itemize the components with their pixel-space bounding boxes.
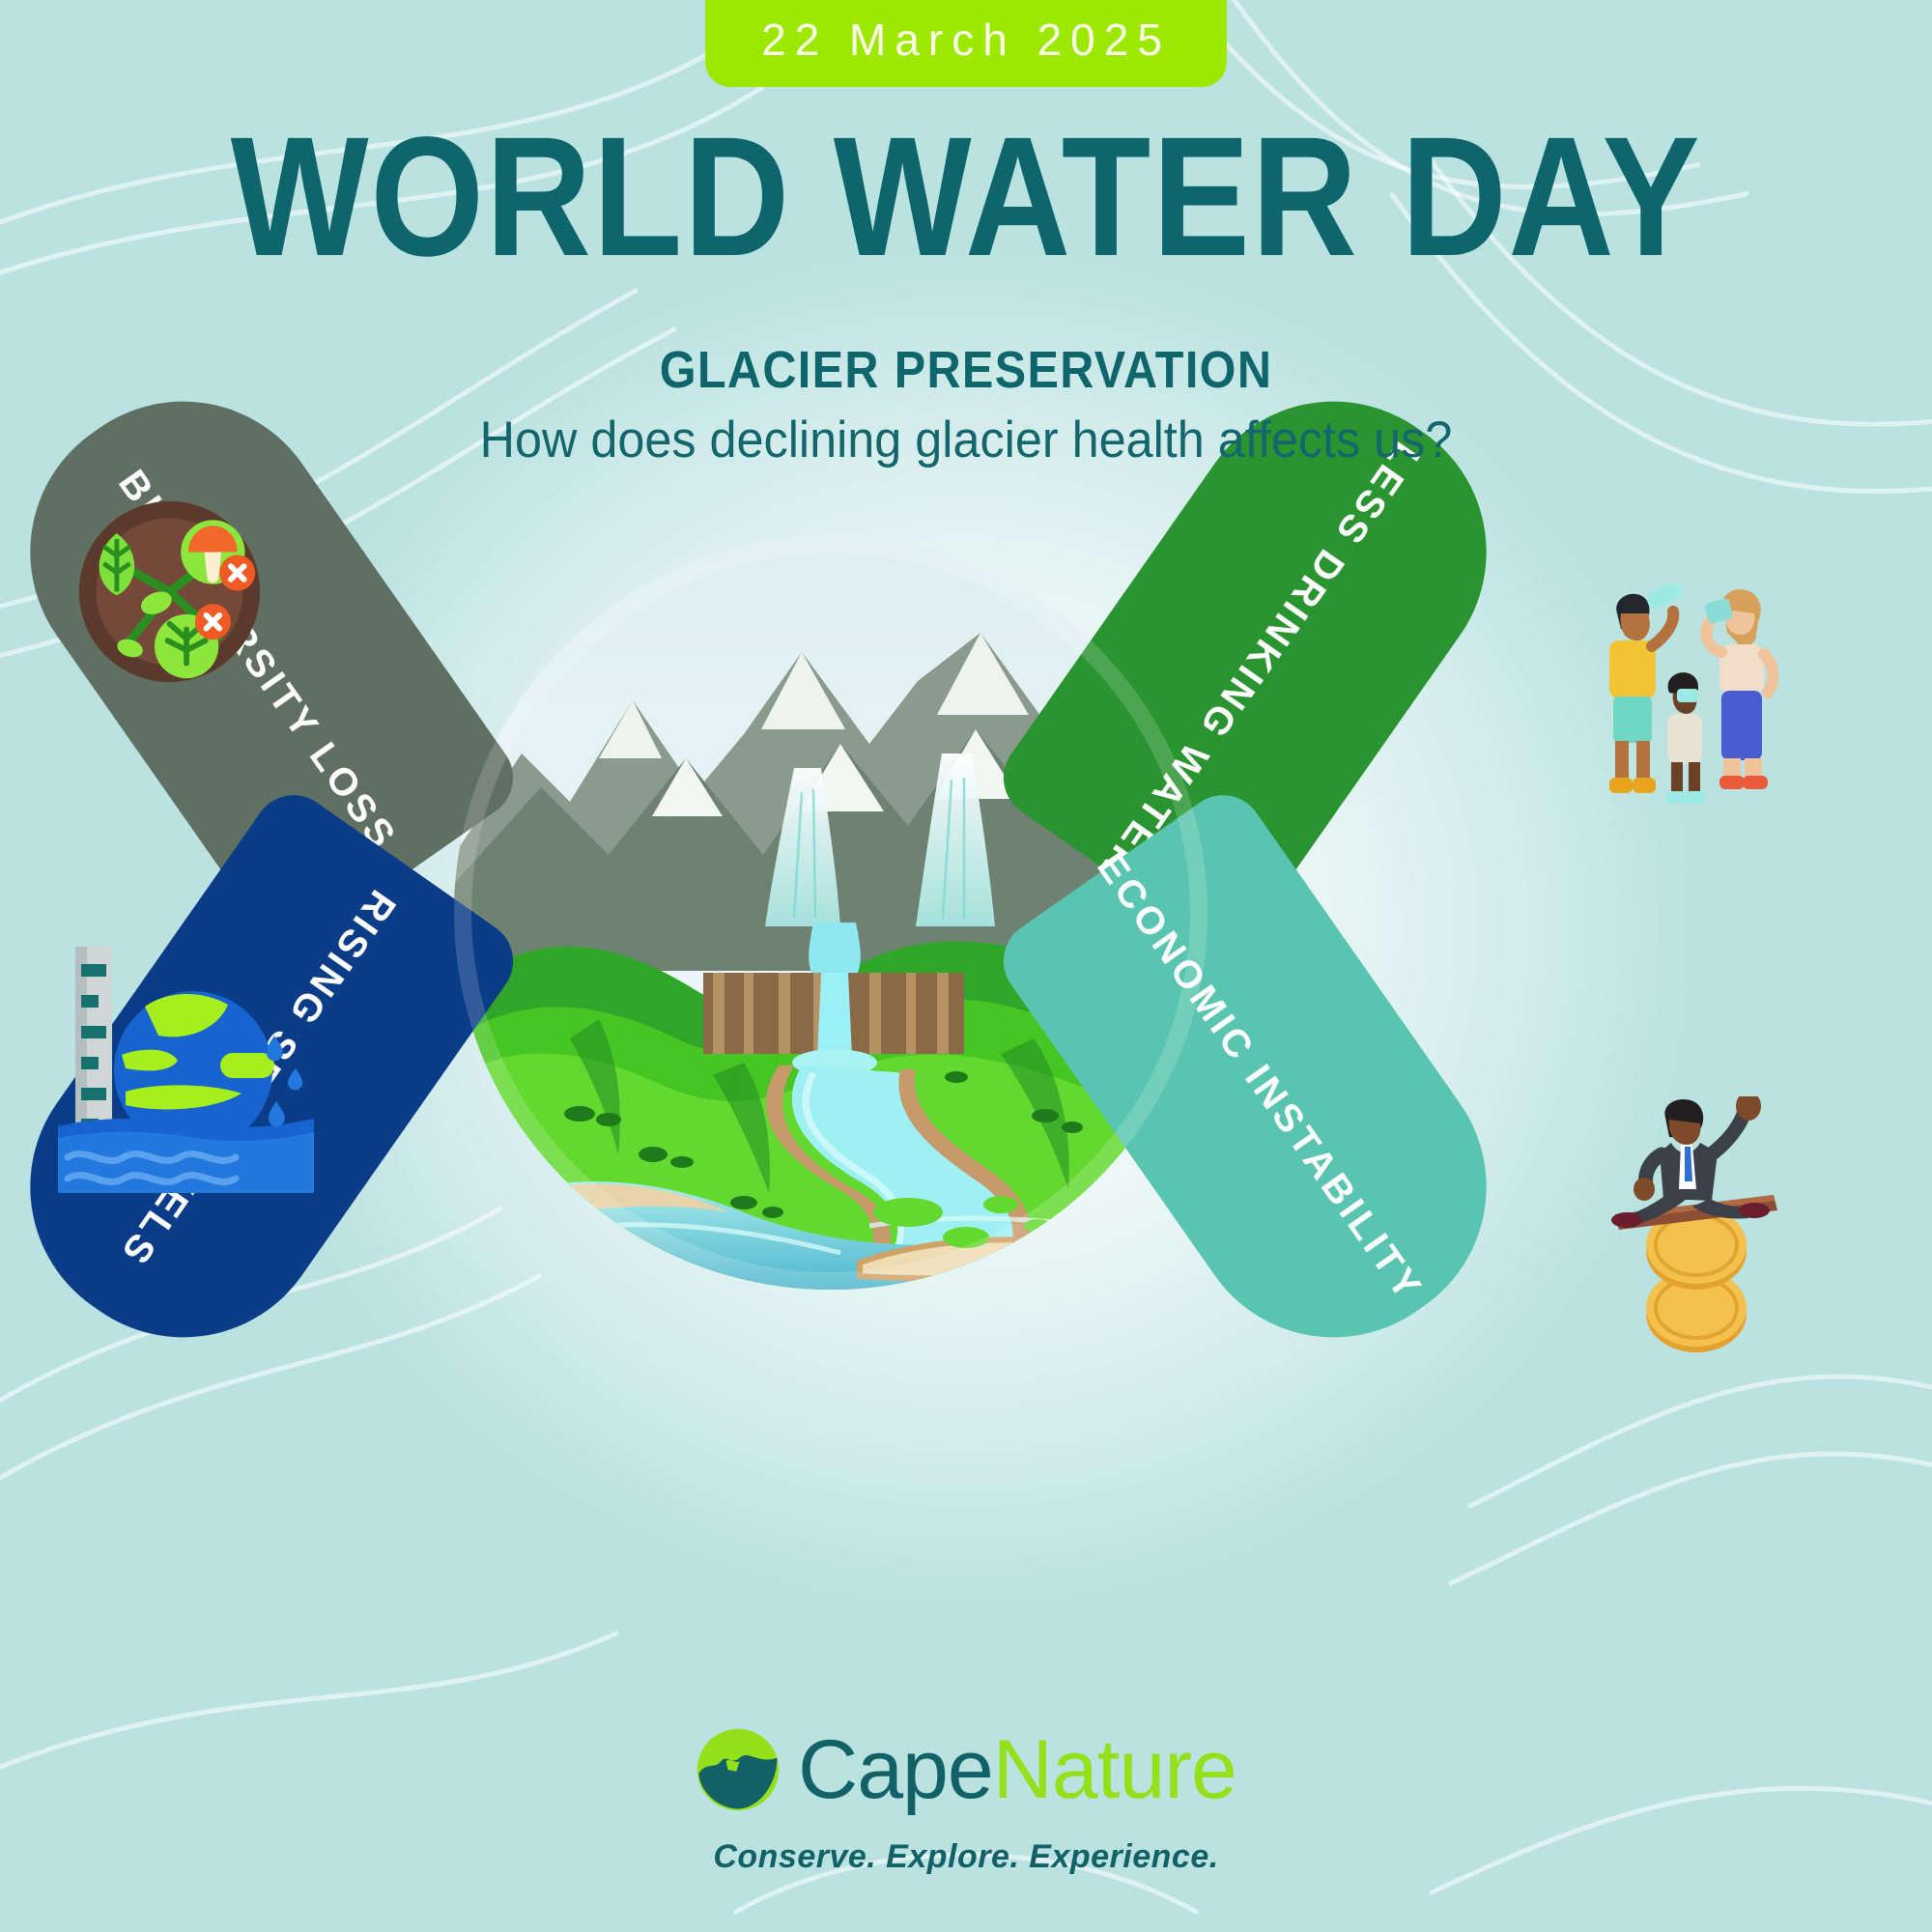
page-subtitle: GLACIER PRESERVATION [97,340,1835,400]
upper-river [809,923,861,973]
businessman-balancing-coins-icon [1604,1096,1782,1357]
date-badge-text: 22 March 2025 [761,17,1171,62]
brand-tagline: Conserve. Explore. Experience. [0,1838,1932,1876]
waterfall [817,973,852,1058]
capenature-wordmark: CapeNature [798,1728,1236,1811]
logo-word-cape: Cape [798,1723,993,1816]
family-drinking-water-icon [1584,584,1782,807]
page-title: WORLD WATER DAY [135,114,1797,280]
woman-figure [1704,589,1774,789]
date-badge: 22 March 2025 [705,0,1227,87]
page-question: How does declining glacier health affect… [48,411,1884,469]
footer-brand: CapeNature Conserve. Explore. Experience… [0,1727,1932,1876]
logo-word-nature: Nature [993,1723,1236,1816]
girl-child-figure [1665,672,1706,804]
globe-ruler-sea-level-icon [58,947,314,1193]
soil-plants-extinction-icon [75,497,264,686]
capenature-logo-icon [696,1727,781,1812]
